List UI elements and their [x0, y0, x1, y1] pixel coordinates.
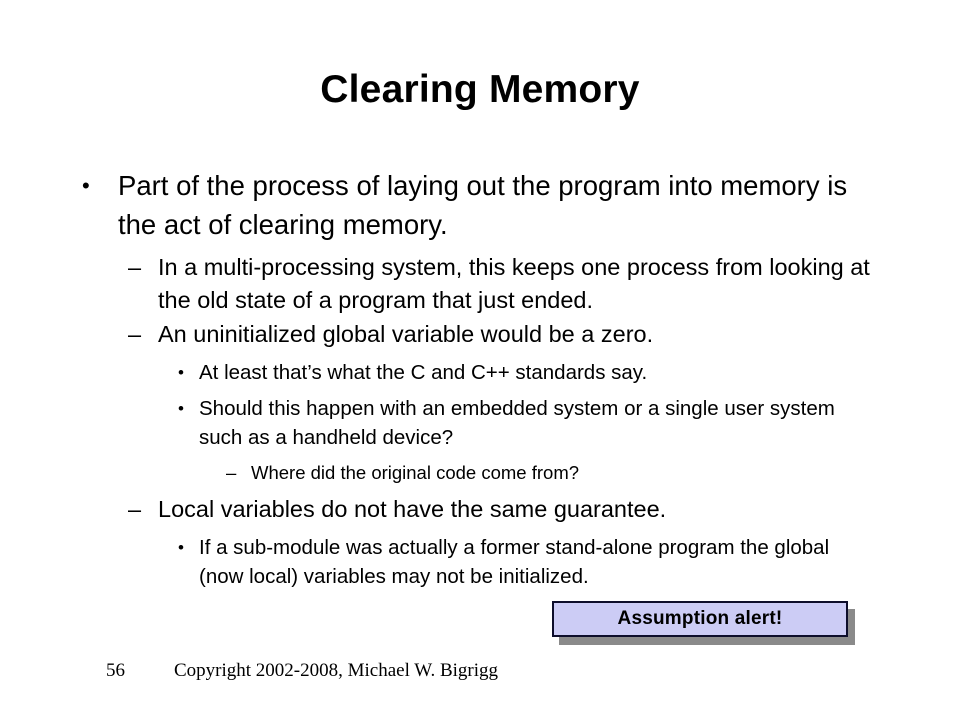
bullet-text: Part of the process of laying out the pr… [118, 166, 864, 244]
dash-marker-icon: – [226, 459, 236, 486]
bullet-text: Should this happen with an embedded syst… [199, 394, 878, 452]
bullet-text: If a sub-module was actually a former st… [199, 533, 878, 591]
bullet-text: At least that’s what the C and C++ stand… [199, 358, 878, 387]
bullet-item-level3: • At least that’s what the C and C++ sta… [0, 358, 960, 387]
assumption-alert-callout: Assumption alert! [552, 601, 848, 637]
bullet-item-level2: – In a multi-processing system, this kee… [0, 251, 960, 317]
copyright-notice: Copyright 2002-2008, Michael W. Bigrigg [174, 660, 498, 682]
callout-label: Assumption alert! [618, 608, 783, 630]
bullet-marker-icon: • [178, 358, 184, 387]
bullet-marker-icon: • [178, 394, 184, 423]
presentation-slide: Clearing Memory • Part of the process of… [0, 0, 960, 720]
bullet-text: Local variables do not have the same gua… [158, 493, 894, 526]
slide-body-outline: • Part of the process of laying out the … [0, 166, 960, 592]
bullet-text: In a multi-processing system, this keeps… [158, 251, 894, 317]
bullet-item-level2: – Local variables do not have the same g… [0, 493, 960, 526]
bullet-item-level3: • Should this happen with an embedded sy… [0, 394, 960, 452]
bullet-text: An uninitialized global variable would b… [158, 318, 894, 351]
bullet-item-level1: • Part of the process of laying out the … [0, 166, 960, 244]
bullet-marker-icon: • [82, 166, 90, 205]
slide-footer: 56 Copyright 2002-2008, Michael W. Bigri… [0, 660, 960, 690]
dash-marker-icon: – [128, 493, 141, 526]
page-title: Clearing Memory [0, 70, 960, 111]
bullet-marker-icon: • [178, 533, 184, 562]
bullet-text: Where did the original code come from? [251, 459, 870, 486]
page-number: 56 [106, 660, 125, 682]
bullet-item-level3: • If a sub-module was actually a former … [0, 533, 960, 591]
dash-marker-icon: – [128, 318, 141, 351]
bullet-item-level4: – Where did the original code come from? [0, 459, 960, 486]
callout-box: Assumption alert! [552, 601, 848, 637]
dash-marker-icon: – [128, 251, 141, 284]
bullet-item-level2: – An uninitialized global variable would… [0, 318, 960, 351]
